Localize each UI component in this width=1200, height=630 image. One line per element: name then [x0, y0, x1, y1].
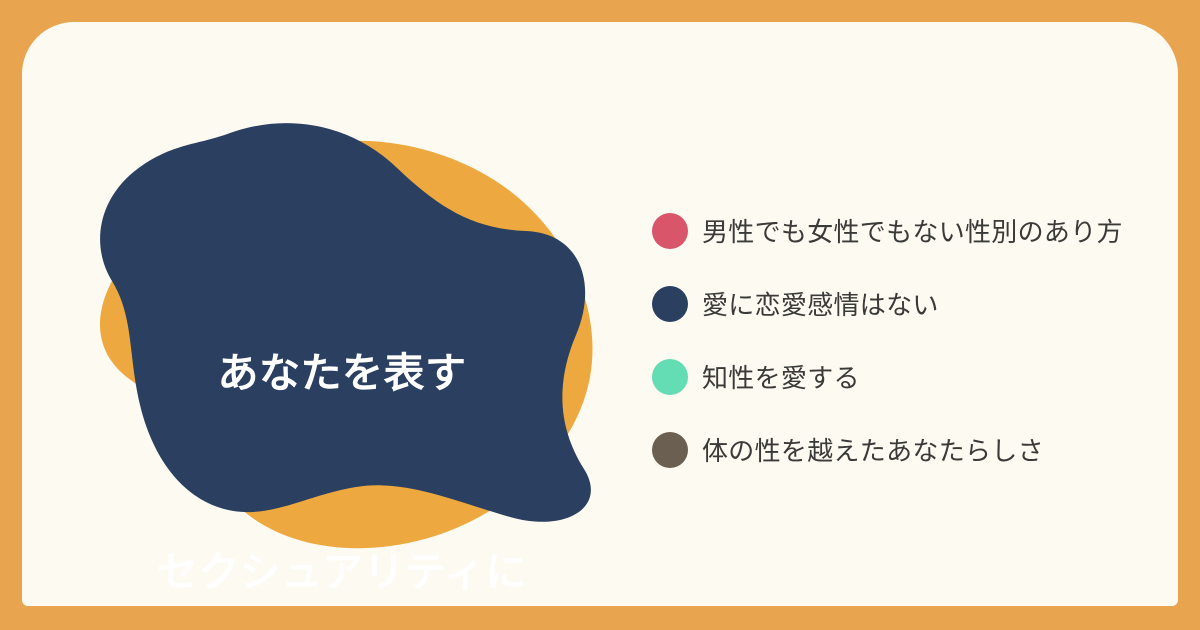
blob-illustration — [78, 105, 598, 545]
bullet-dot-icon-rose — [652, 213, 688, 249]
option-list: 男性でも女性でもない性別のあり方 愛に恋愛感情はない 知性を愛する 体の性を越え… — [652, 194, 1152, 486]
poster-canvas: あなたを表す セクシュアリティに 近いものは… 男性でも女性でもない性別のあり方… — [0, 0, 1200, 630]
navy-blob-shape — [100, 123, 591, 522]
option-row-4[interactable]: 体の性を越えたあなたらしさ — [652, 413, 1152, 486]
option-row-2[interactable]: 愛に恋愛感情はない — [652, 267, 1152, 340]
option-label-3: 知性を愛する — [702, 358, 860, 395]
bullet-dot-icon-mint — [652, 359, 688, 395]
bullet-dot-icon-navy — [652, 286, 688, 322]
blob-svg — [78, 105, 598, 545]
option-row-1[interactable]: 男性でも女性でもない性別のあり方 — [652, 194, 1152, 267]
option-label-1: 男性でも女性でもない性別のあり方 — [702, 212, 1123, 249]
option-row-3[interactable]: 知性を愛する — [652, 340, 1152, 413]
bullet-dot-icon-brown — [652, 432, 688, 468]
option-label-4: 体の性を越えたあなたらしさ — [702, 431, 1044, 468]
option-label-2: 愛に恋愛感情はない — [702, 285, 939, 322]
headline-line-2: セクシュアリティに — [122, 539, 562, 605]
content-card: あなたを表す セクシュアリティに 近いものは… 男性でも女性でもない性別のあり方… — [22, 22, 1178, 606]
